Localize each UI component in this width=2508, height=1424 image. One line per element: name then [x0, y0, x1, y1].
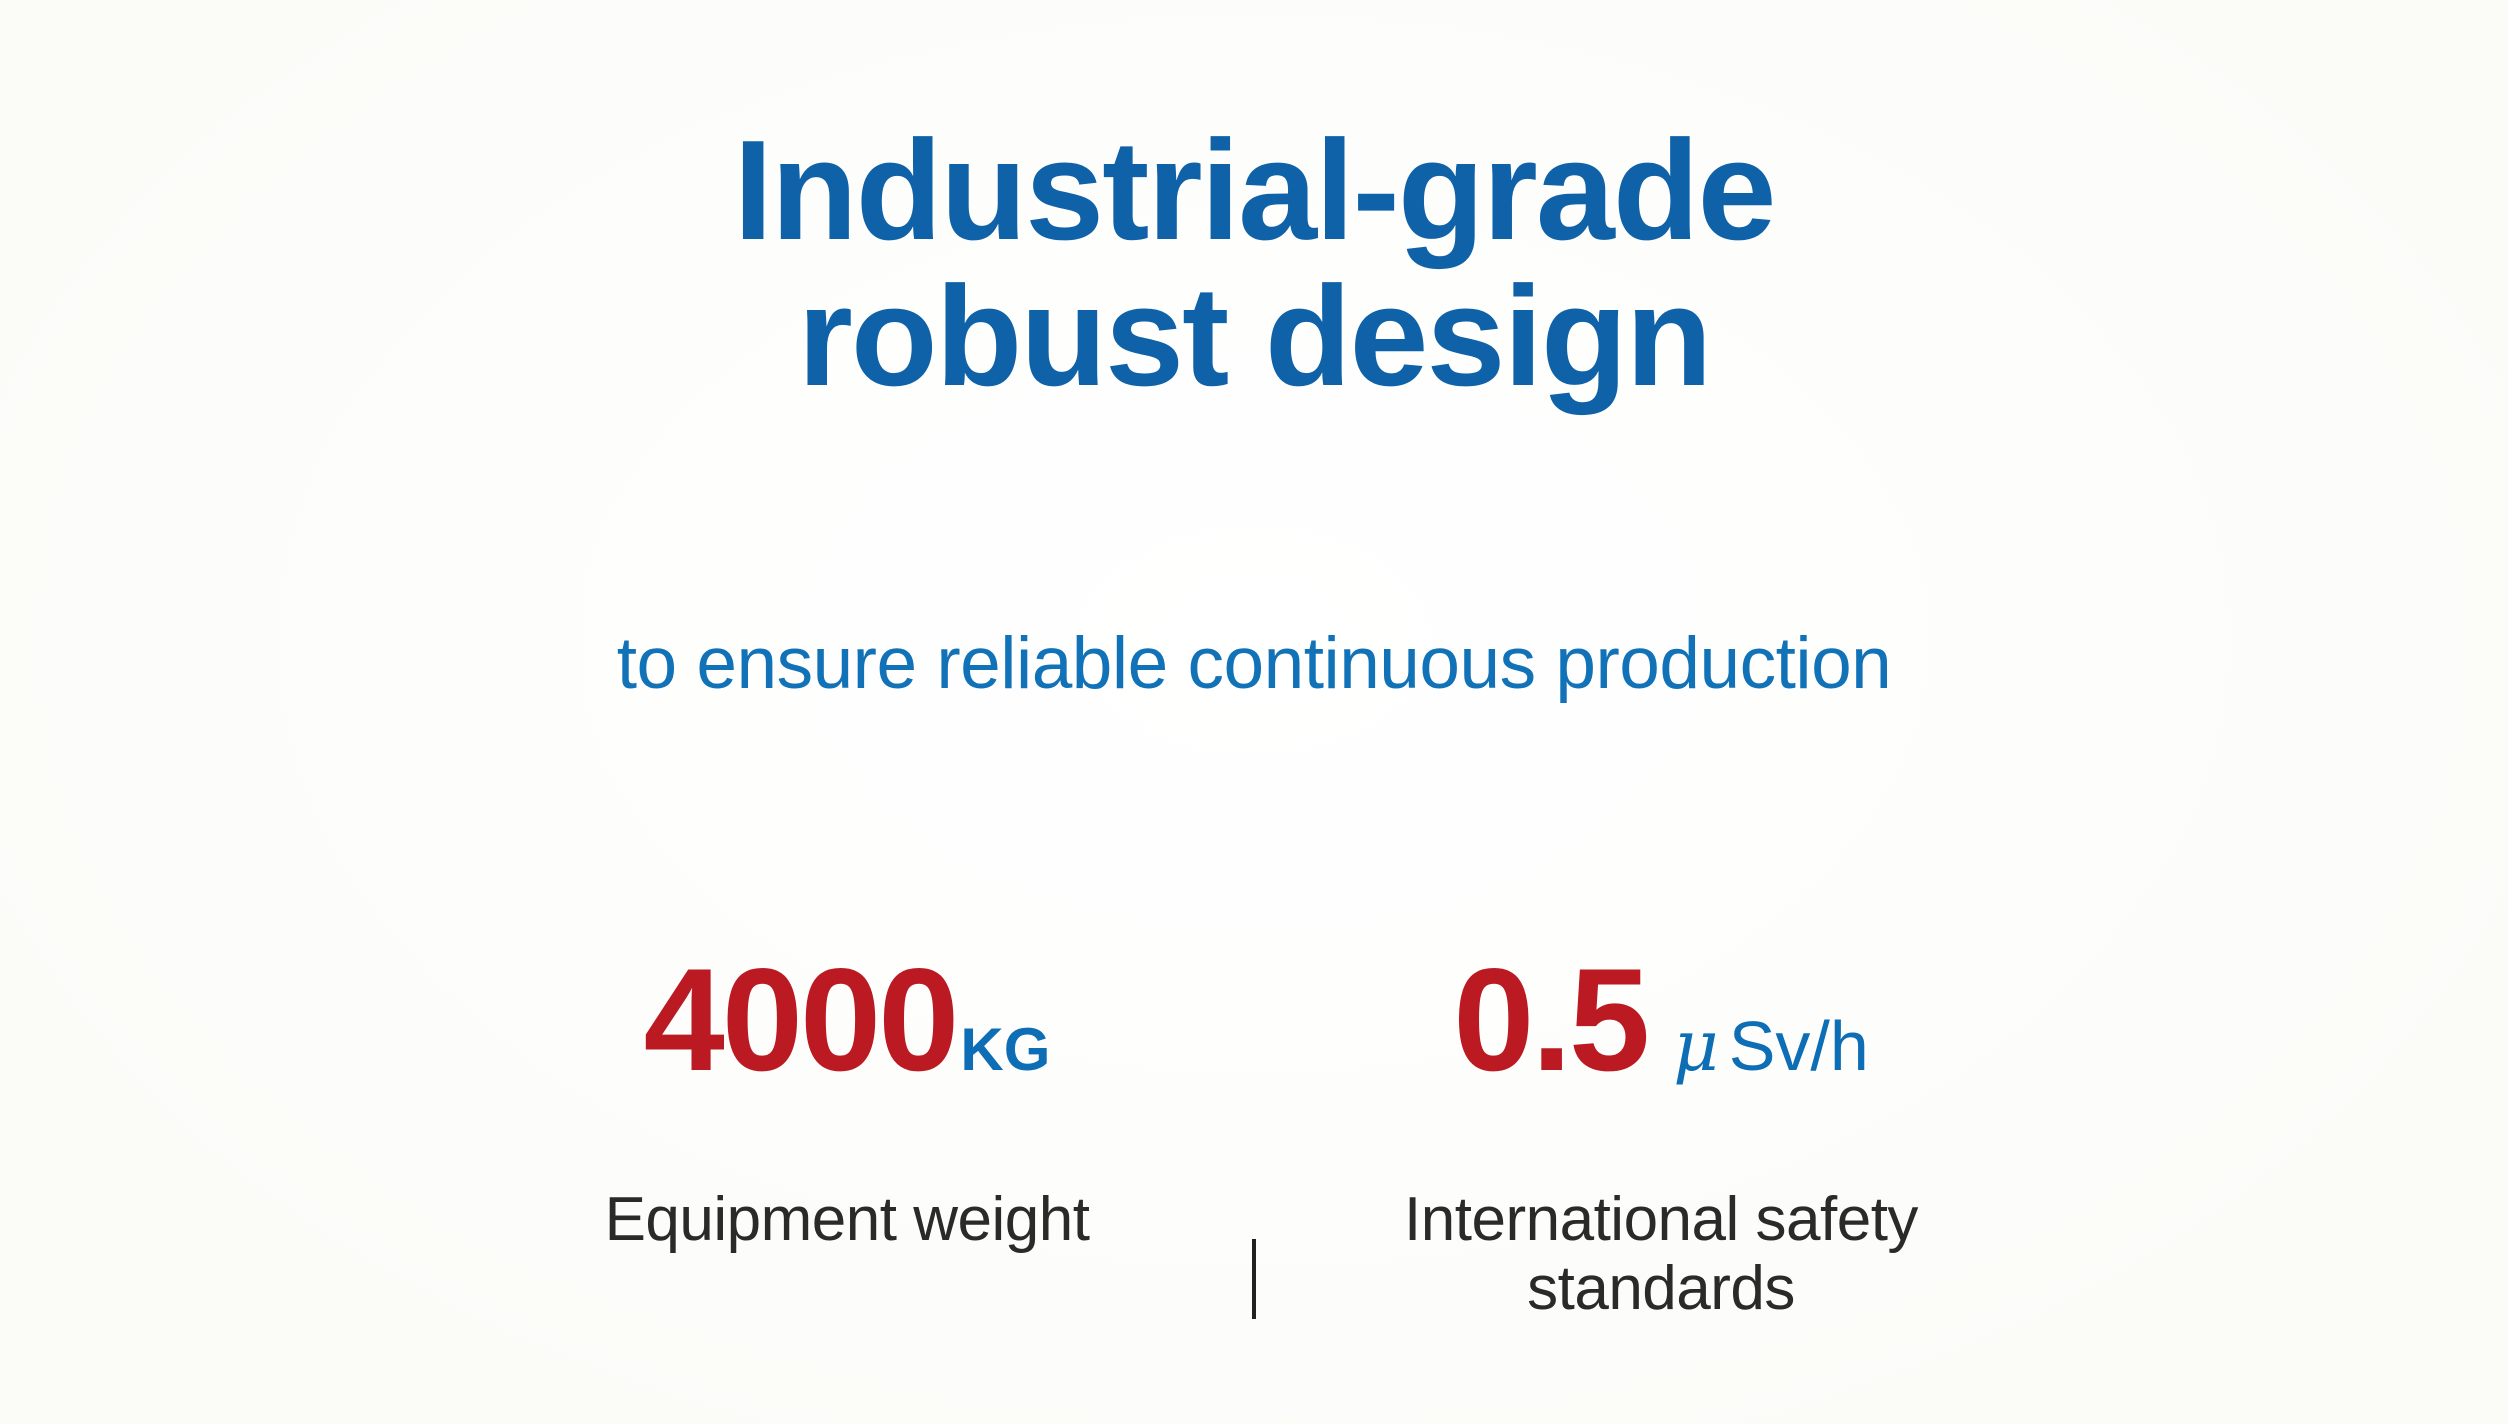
stats-row: 4000 KG Equipment weight 0.5 μSv/h Inter… — [0, 947, 2508, 1324]
stat-separator-bar — [1252, 1239, 1256, 1319]
stat-unit-dose-rate: μSv/h — [1673, 1011, 1869, 1081]
stat-value-dose-rate: 0.5 μSv/h — [1453, 947, 1869, 1097]
page-subtitle: to ensure reliable continuous production — [617, 624, 1892, 704]
page-title-line-2: robust design — [454, 264, 2054, 410]
stat-number-dose-rate: 0.5 — [1453, 947, 1647, 1093]
stat-caption-weight: Equipment weight — [605, 1185, 1090, 1254]
micro-symbol: μ — [1673, 1005, 1729, 1087]
stat-value-weight: 4000 KG — [644, 947, 1051, 1097]
stat-unit-dose-rate-text: Sv/h — [1729, 1007, 1869, 1085]
stat-unit-weight: KG — [960, 1020, 1050, 1080]
slide-root: Industrial-grade robust design to ensure… — [0, 0, 2508, 1424]
stat-safety-standard: 0.5 μSv/h International safety standards — [1311, 947, 2011, 1324]
stat-number-weight: 4000 — [644, 947, 957, 1093]
page-title-line-1: Industrial-grade — [454, 118, 2054, 264]
page-title: Industrial-grade robust design — [454, 118, 2054, 411]
stat-caption-dose-rate: International safety standards — [1341, 1185, 1981, 1324]
stat-equipment-weight: 4000 KG Equipment weight — [497, 947, 1197, 1254]
